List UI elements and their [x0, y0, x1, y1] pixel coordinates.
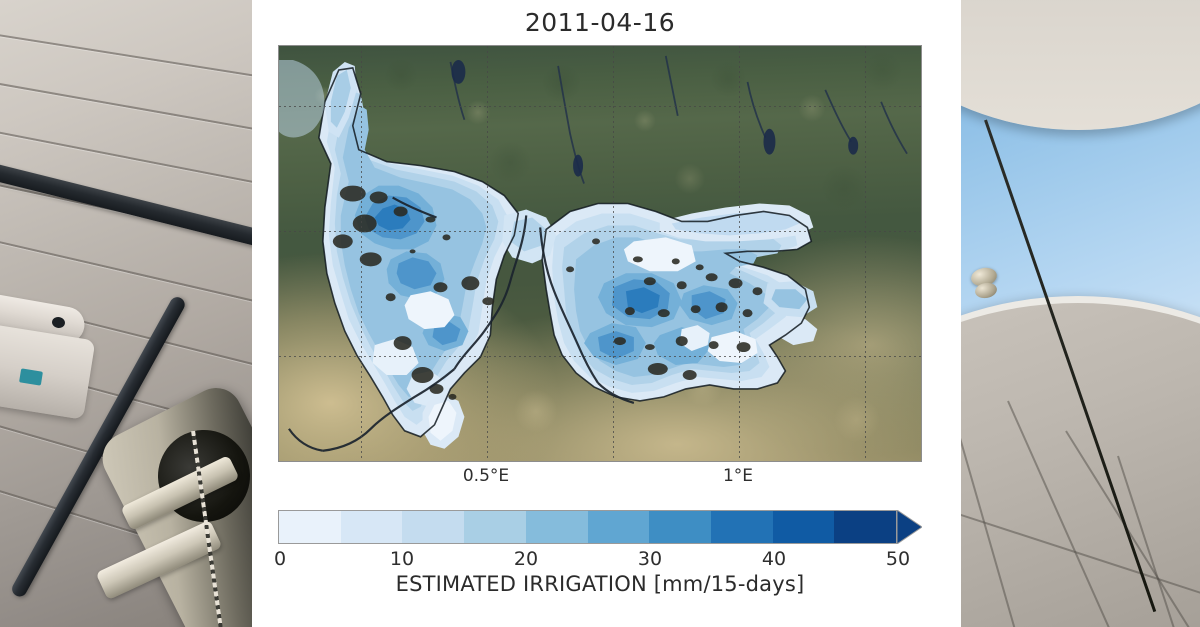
colorbar-gradient — [278, 510, 897, 544]
figure-title: 2011-04-16 — [252, 8, 948, 37]
gridline-horizontal — [279, 356, 921, 357]
irrigation-east-fringe — [779, 319, 817, 345]
gridline-vertical — [865, 46, 866, 461]
observatory-dome-interior-photo — [0, 0, 252, 627]
irrigation-contour-overlay — [279, 46, 921, 462]
colorbar-segment-4 — [526, 511, 588, 543]
gridline-vertical — [487, 46, 488, 461]
colorbar-tick-4: 40 — [762, 548, 786, 570]
irrigation-figure-panel: 2011-04-16 — [252, 0, 948, 627]
gridline-vertical — [613, 46, 614, 461]
lowland-lake — [279, 60, 324, 138]
dome-slit-lip — [948, 296, 1200, 627]
map-axes — [278, 45, 922, 462]
gridline-vertical — [361, 46, 362, 461]
colorbar-segment-9 — [834, 511, 896, 543]
xtick-label-1: 1°E — [723, 466, 753, 486]
screenshot-root: 2011-04-16 — [0, 0, 1200, 627]
colorbar-tick-2: 20 — [514, 548, 538, 570]
colorbar-tick-1: 10 — [390, 548, 414, 570]
colorbar-tick-0: 0 — [274, 548, 286, 570]
upland-rivers — [450, 56, 907, 184]
colorbar-segment-3 — [464, 511, 526, 543]
panel-gutter — [948, 0, 961, 627]
colorbar-segment-5 — [588, 511, 650, 543]
dome-panel-arc-upper — [948, 0, 1200, 130]
xtick-label-0: 0.5°E — [463, 466, 509, 486]
colorbar-segment-8 — [773, 511, 835, 543]
colorbar-segment-7 — [711, 511, 773, 543]
colorbar-segment-2 — [402, 511, 464, 543]
colorbar — [278, 510, 922, 544]
gridline-horizontal — [279, 106, 921, 107]
colorbar-segment-0 — [279, 511, 341, 543]
gridline-vertical — [739, 46, 740, 461]
observatory-dome-slit-photo — [948, 0, 1200, 627]
gridline-horizontal — [279, 231, 921, 232]
colorbar-segment-1 — [341, 511, 403, 543]
colorbar-segment-6 — [649, 511, 711, 543]
colorbar-extend-arrow-icon — [897, 510, 922, 544]
colorbar-tick-3: 30 — [638, 548, 662, 570]
colorbar-tick-5: 50 — [886, 548, 910, 570]
colorbar-label: ESTIMATED IRRIGATION [mm/15-days] — [252, 572, 948, 596]
reservoirs — [451, 60, 858, 177]
